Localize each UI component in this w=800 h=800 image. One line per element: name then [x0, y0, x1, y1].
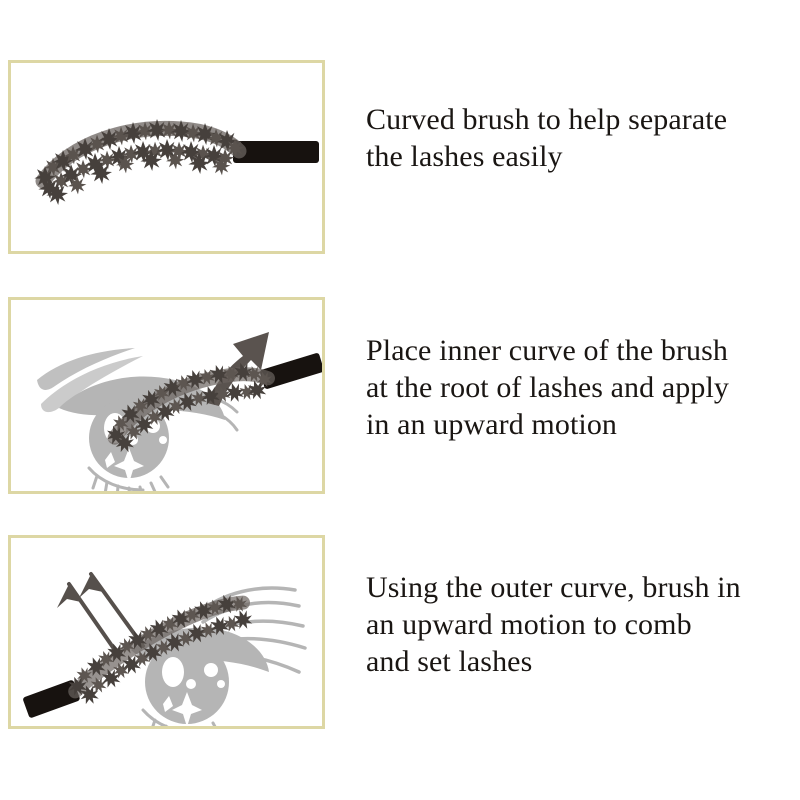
curved-brush-illustration	[11, 63, 322, 251]
step-3-image-panel	[8, 535, 325, 729]
step-row-2: Place inner curve of the brush at the ro…	[0, 297, 800, 494]
step-1-caption: Curved brush to help separate the lashes…	[325, 60, 800, 175]
instruction-infographic: Curved brush to help separate the lashes…	[0, 0, 800, 800]
step-1-image-panel	[8, 60, 325, 254]
step-row-1: Curved brush to help separate the lashes…	[0, 60, 800, 254]
outer-curve-comb-illustration	[11, 538, 322, 726]
step-row-3: Using the outer curve, brush in an upwar…	[0, 535, 800, 729]
inner-curve-application-illustration	[11, 300, 322, 491]
step-3-caption: Using the outer curve, brush in an upwar…	[325, 535, 800, 681]
step-2-caption: Place inner curve of the brush at the ro…	[325, 297, 800, 444]
step-2-image-panel	[8, 297, 325, 494]
